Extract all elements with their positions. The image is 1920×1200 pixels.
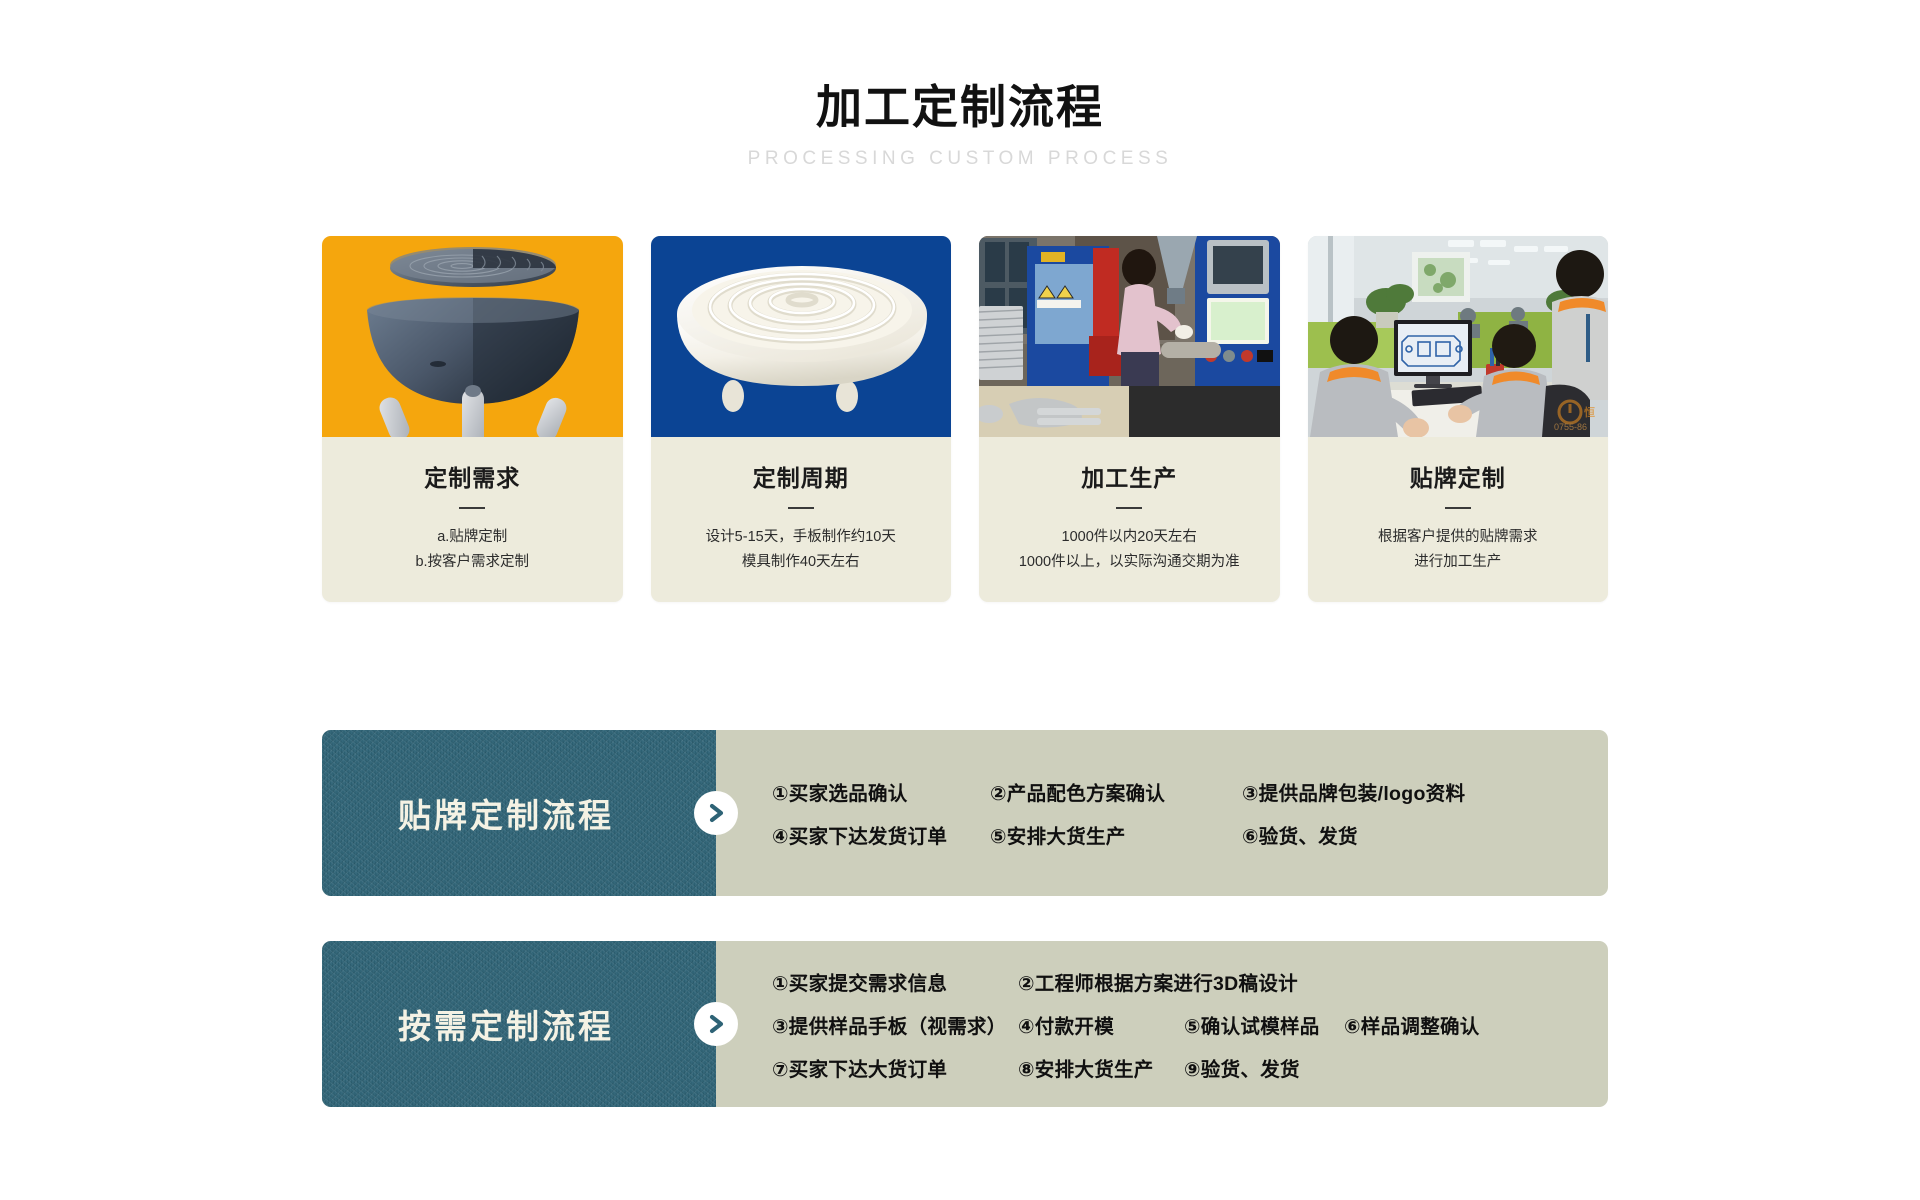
card-description: 1000件以内20天左右 1000件以上，以实际沟通交期为准	[991, 525, 1268, 576]
banner-step: ④付款开模	[1018, 1010, 1184, 1039]
banner-step: ⑥样品调整确认	[1344, 1010, 1480, 1039]
card-title: 定制需求	[334, 459, 611, 493]
banner-step-row: ①买家提交需求信息 ②工程师根据方案进行3D稿设计	[772, 967, 1588, 996]
card-description: 根据客户提供的贴牌需求 进行加工生产	[1320, 525, 1597, 576]
banner-step: ②工程师根据方案进行3D稿设计	[1018, 967, 1178, 996]
banner-step: ⑧安排大货生产	[1018, 1053, 1184, 1082]
card-title: 贴牌定制	[1320, 459, 1597, 493]
page-subtitle: PROCESSING CUSTOM PROCESS	[0, 148, 1920, 170]
card-body: 定制需求 a.贴牌定制 b.按客户需求定制	[322, 437, 623, 602]
oem-process-banner: 贴牌定制流程 ①买家选品确认 ②产品配色方案确认 ③提供品牌包装/logo资料 …	[322, 730, 1608, 896]
banner-step-row: ④买家下达发货订单 ⑤安排大货生产 ⑥验货、发货	[772, 820, 1588, 849]
card-divider	[459, 507, 485, 509]
banner-step: ④买家下达发货订单	[772, 820, 990, 849]
card-body: 定制周期 设计5-15天，手板制作约10天 模具制作40天左右	[651, 437, 952, 602]
page-title: 加工定制流程	[0, 82, 1920, 133]
banner-step: ⑥验货、发货	[1242, 820, 1358, 849]
ondemand-process-banner: 按需定制流程 ①买家提交需求信息 ②工程师根据方案进行3D稿设计 ③提供样品手板…	[322, 941, 1608, 1107]
card-body: 加工生产 1000件以内20天左右 1000件以上，以实际沟通交期为准	[979, 437, 1280, 602]
banner-step: ③提供品牌包装/logo资料	[1242, 777, 1465, 806]
banner-label-ondemand: 按需定制流程	[322, 941, 716, 1107]
chevron-right-icon[interactable]	[694, 1002, 738, 1046]
banner-step: ⑦买家下达大货订单	[772, 1053, 1018, 1082]
card-image-exploded-bowl	[322, 236, 623, 437]
banner-step: ③提供样品手板（视需求）	[772, 1010, 1018, 1039]
banner-step: ⑤安排大货生产	[990, 820, 1242, 849]
process-card-production[interactable]: 加工生产 1000件以内20天左右 1000件以上，以实际沟通交期为准	[979, 236, 1280, 602]
card-title: 定制周期	[663, 459, 940, 493]
card-image-design-office-photo: 恒 0755-86	[1308, 236, 1609, 437]
process-card-list: 定制需求 a.贴牌定制 b.按客户需求定制	[322, 236, 1608, 602]
banner-step: ②产品配色方案确认	[990, 777, 1242, 806]
exploded-bowl-illustration	[322, 236, 623, 437]
banner-step-row: ③提供样品手板（视需求） ④付款开模 ⑤确认试模样品 ⑥样品调整确认	[772, 1010, 1588, 1039]
card-image-white-prototype	[651, 236, 952, 437]
card-divider	[1445, 507, 1471, 509]
slow-feeder-bowl-illustration	[651, 236, 952, 437]
card-description: 设计5-15天，手板制作约10天 模具制作40天左右	[663, 525, 940, 576]
banner-step: ⑨验货、发货	[1184, 1053, 1300, 1082]
banner-step: ①买家提交需求信息	[772, 967, 1018, 996]
process-card-custom-cycle[interactable]: 定制周期 设计5-15天，手板制作约10天 模具制作40天左右	[651, 236, 952, 602]
card-description: a.贴牌定制 b.按客户需求定制	[334, 525, 611, 576]
banner-steps-ondemand: ①买家提交需求信息 ②工程师根据方案进行3D稿设计 ③提供样品手板（视需求） ④…	[716, 941, 1608, 1107]
banner-label-text: 贴牌定制流程	[398, 789, 614, 837]
banner-step: ⑤确认试模样品	[1184, 1010, 1344, 1039]
process-card-oem[interactable]: 恒 0755-86 贴牌定制 根据客户提供的贴牌需求 进行加工生产	[1308, 236, 1609, 602]
page-header: 加工定制流程 PROCESSING CUSTOM PROCESS	[0, 82, 1920, 170]
svg-text:0755-86: 0755-86	[1554, 422, 1587, 432]
banner-step-row: ①买家选品确认 ②产品配色方案确认 ③提供品牌包装/logo资料	[772, 777, 1588, 806]
banner-label-oem: 贴牌定制流程	[322, 730, 716, 896]
banner-label-text: 按需定制流程	[398, 1000, 614, 1048]
design-office-photo-illustration: 恒 0755-86	[1308, 236, 1609, 437]
process-card-custom-requirement[interactable]: 定制需求 a.贴牌定制 b.按客户需求定制	[322, 236, 623, 602]
banner-step-row: ⑦买家下达大货订单 ⑧安排大货生产 ⑨验货、发货	[772, 1053, 1588, 1082]
card-divider	[788, 507, 814, 509]
banner-step: ①买家选品确认	[772, 777, 990, 806]
card-image-factory-photo	[979, 236, 1280, 437]
card-title: 加工生产	[991, 459, 1268, 493]
chevron-right-icon[interactable]	[694, 791, 738, 835]
svg-text:恒: 恒	[1584, 405, 1595, 419]
banner-steps-oem: ①买家选品确认 ②产品配色方案确认 ③提供品牌包装/logo资料 ④买家下达发货…	[716, 730, 1608, 896]
card-divider	[1116, 507, 1142, 509]
custom-process-page: 加工定制流程 PROCESSING CUSTOM PROCESS	[0, 0, 1920, 1200]
factory-molding-photo-illustration	[979, 236, 1280, 437]
card-body: 贴牌定制 根据客户提供的贴牌需求 进行加工生产	[1308, 437, 1609, 602]
